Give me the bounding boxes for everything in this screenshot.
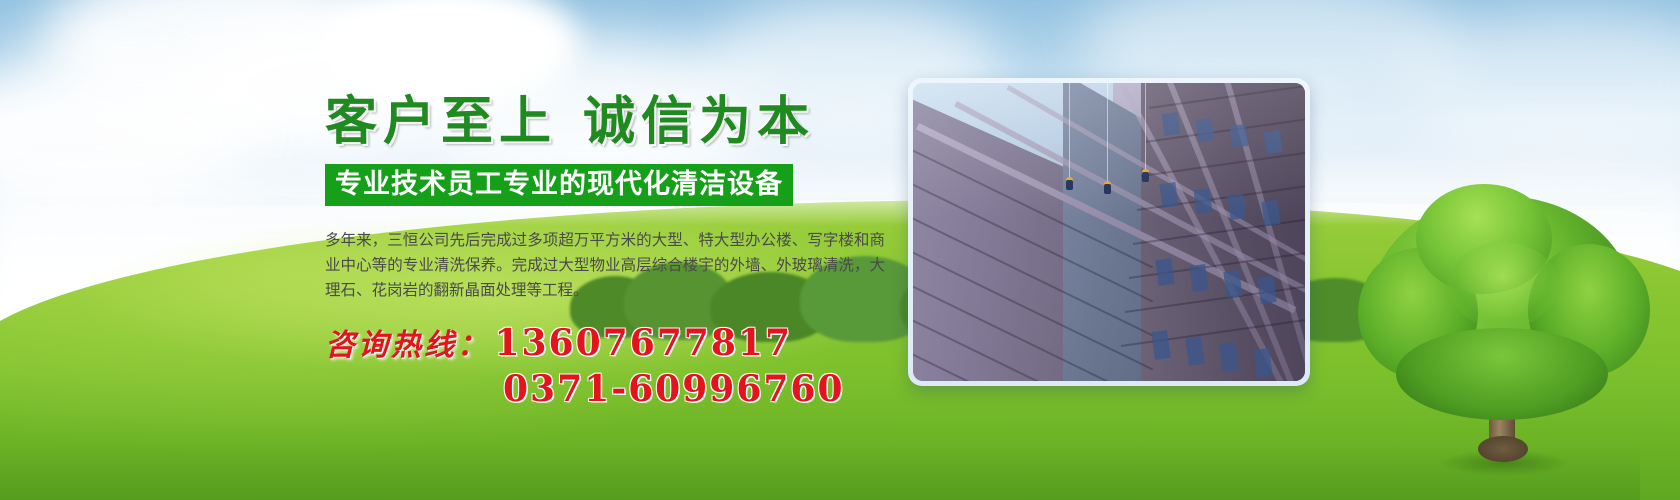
promo-banner: 客户至上诚信为本 专业技术员工专业的现代化清洁设备 多年来，三恒公司先后完成过多… bbox=[0, 0, 1680, 500]
photo-gloss-overlay bbox=[913, 83, 1305, 220]
phone-number-secondary[interactable]: 0371-60996760 bbox=[503, 368, 845, 410]
phone-number-primary[interactable]: 13607677817 bbox=[494, 322, 792, 364]
phone-row-secondary: 0371-60996760 bbox=[325, 371, 905, 407]
building-window bbox=[1155, 258, 1174, 286]
tree-canopy bbox=[1448, 242, 1558, 328]
building-window bbox=[1223, 270, 1242, 298]
headline-part-2: 诚信为本 bbox=[583, 91, 815, 152]
building-photo bbox=[913, 83, 1305, 381]
building-window bbox=[1257, 276, 1276, 304]
description-paragraph: 多年来，三恒公司先后完成过多项超万平方米的大型、特大型办公楼、写字楼和商业中心等… bbox=[325, 228, 885, 303]
phone-row-primary: 咨询热线： 13607677817 bbox=[325, 325, 905, 361]
contact-block: 咨询热线： 13607677817 0371-60996760 bbox=[325, 325, 905, 407]
subtitle-bar: 专业技术员工专业的现代化清洁设备 bbox=[325, 164, 793, 206]
foreground-tree bbox=[1352, 178, 1652, 478]
hotline-label: 咨询热线： bbox=[325, 328, 490, 363]
building-window bbox=[1189, 264, 1208, 292]
headline-part-1: 客户至上 bbox=[325, 91, 557, 152]
banner-headline: 客户至上诚信为本 bbox=[325, 96, 905, 148]
building-photo-frame[interactable] bbox=[908, 78, 1310, 386]
banner-text-block: 客户至上诚信为本 专业技术员工专业的现代化清洁设备 多年来，三恒公司先后完成过多… bbox=[325, 96, 905, 407]
subtitle-text: 专业技术员工专业的现代化清洁设备 bbox=[335, 170, 783, 199]
tree-trunk-base bbox=[1478, 436, 1528, 462]
tree-canopy bbox=[1396, 328, 1608, 420]
